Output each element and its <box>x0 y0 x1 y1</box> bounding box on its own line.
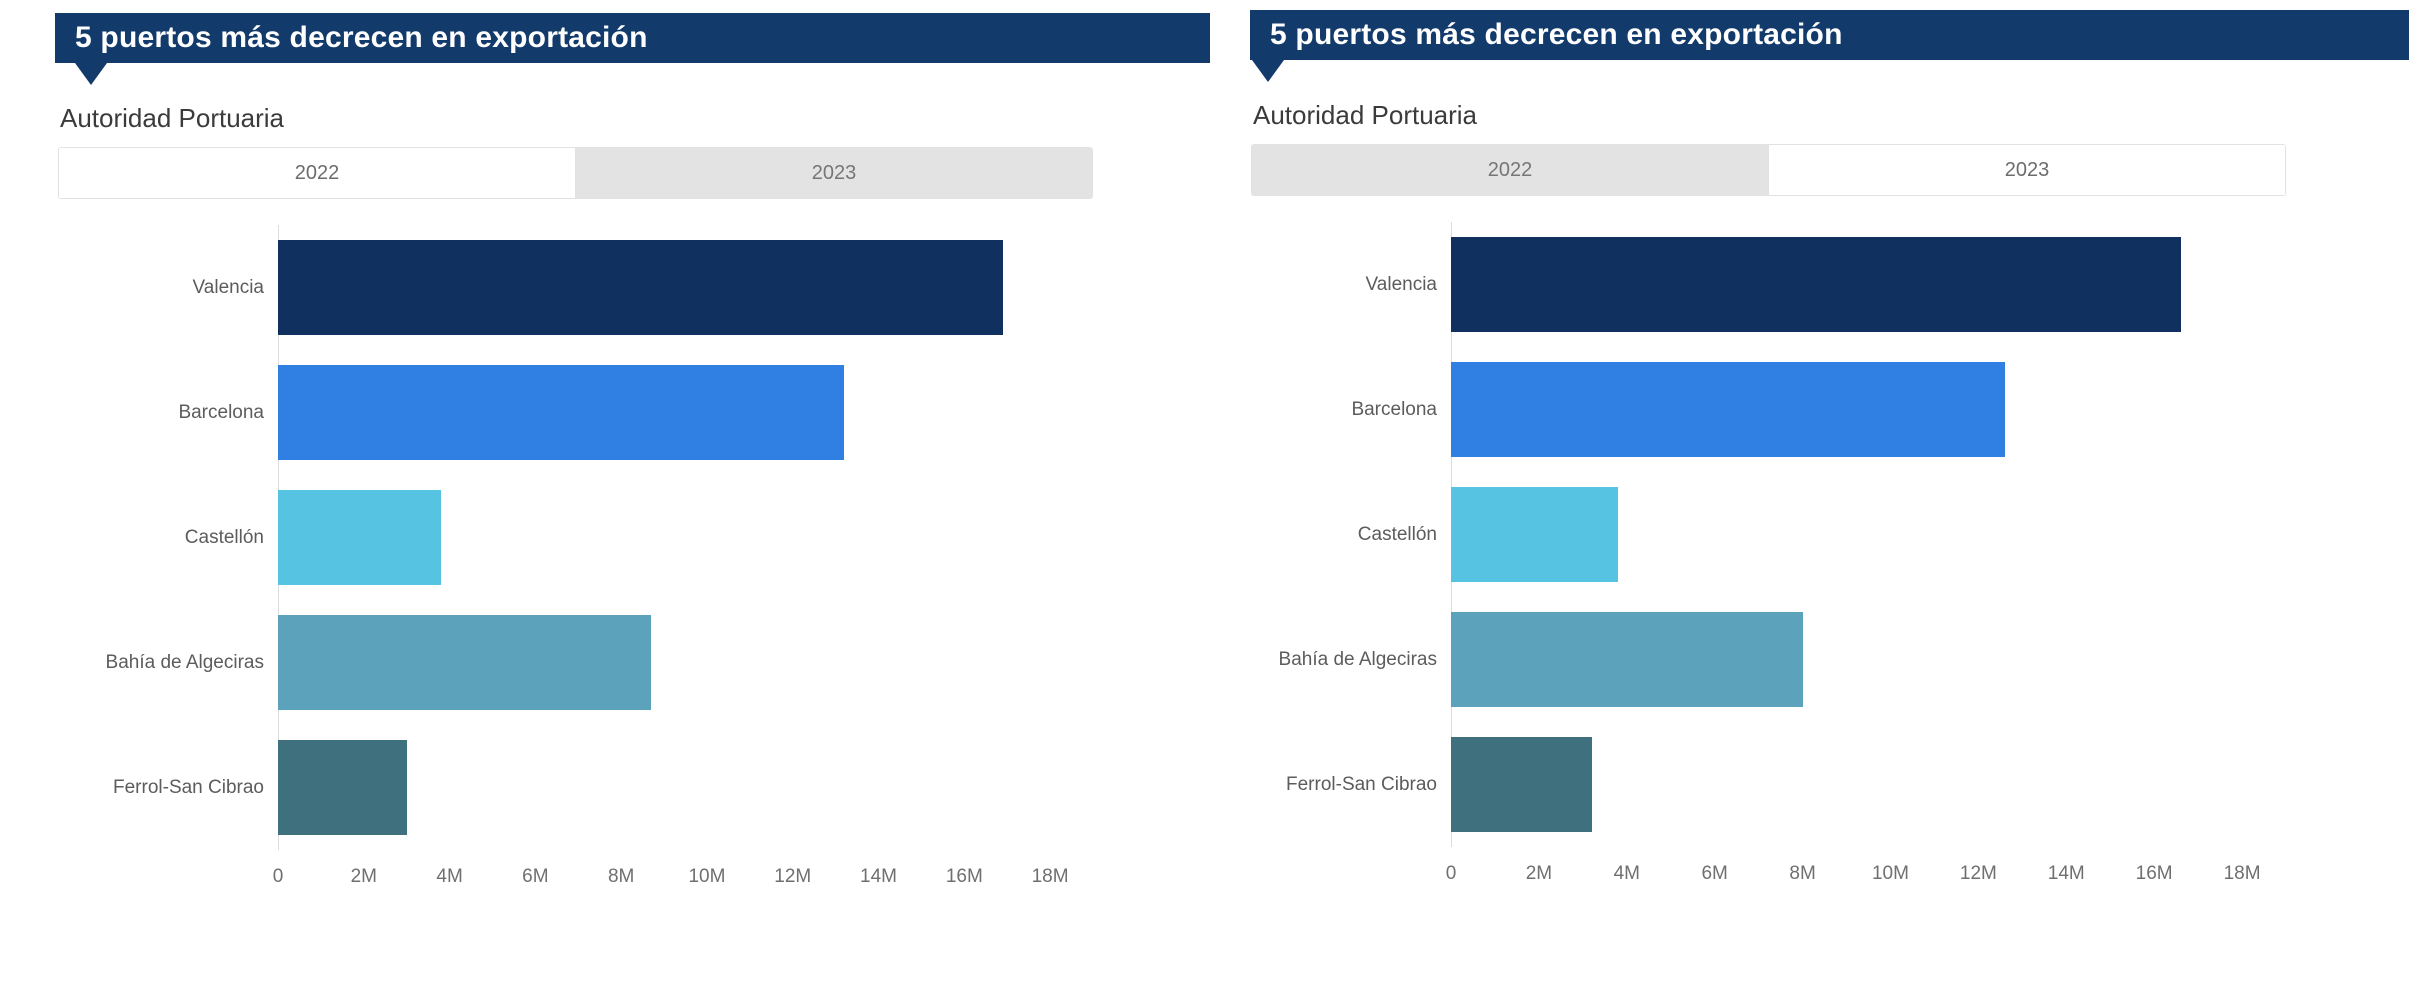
category-label-castellon: Castellón <box>58 527 278 549</box>
bar-chart-2022: Valencia Barcelona Castellón Bahía de Al… <box>58 225 1093 915</box>
dashboard-board: 5 puertos más decrecen en exportación Au… <box>0 0 2409 989</box>
bar-bahia-de-algeciras[interactable] <box>278 615 651 710</box>
bar-row <box>1451 222 2286 347</box>
x-tick-label: 0 <box>1446 863 1457 885</box>
filter-title: Autoridad Portuaria <box>1253 100 2399 131</box>
tab-2022[interactable]: 2022 <box>1252 145 1768 195</box>
x-tick-label: 18M <box>2224 863 2261 885</box>
year-tab-group[interactable]: 2022 2023 <box>58 147 1093 199</box>
bar-valencia[interactable] <box>278 240 1003 335</box>
bar-row <box>1451 472 2286 597</box>
tab-2023[interactable]: 2023 <box>1768 145 2285 195</box>
bar-barcelona[interactable] <box>278 365 844 460</box>
category-label-valencia: Valencia <box>58 277 278 299</box>
filter-title: Autoridad Portuaria <box>60 103 1240 134</box>
plot-area: Valencia Barcelona Castellón Bahía de Al… <box>1251 222 2286 847</box>
x-tick-label: 16M <box>2136 863 2173 885</box>
category-row: Valencia <box>1251 222 1451 347</box>
x-tick-label: 4M <box>436 866 462 888</box>
x-tick-label: 2M <box>351 866 377 888</box>
bar-row <box>278 225 1093 350</box>
tab-2023[interactable]: 2023 <box>575 148 1092 198</box>
banner-title: 5 puertos más decrecen en exportación <box>1250 10 2409 60</box>
x-tick-label: 12M <box>774 866 811 888</box>
x-tick-label: 8M <box>608 866 634 888</box>
x-tick-label: 4M <box>1614 863 1640 885</box>
category-row: Barcelona <box>1251 347 1451 472</box>
category-row: Ferrol-San Cibrao <box>58 725 278 850</box>
category-row: Castellón <box>1251 472 1451 597</box>
category-row: Bahía de Algeciras <box>58 600 278 725</box>
x-tick-label: 0 <box>273 866 284 888</box>
category-label-bahia-de-algeciras: Bahía de Algeciras <box>1251 649 1451 671</box>
banner-title: 5 puertos más decrecen en exportación <box>55 13 1210 63</box>
panel-header: 5 puertos más decrecen en exportación <box>55 13 1240 85</box>
bar-castellon[interactable] <box>278 490 441 585</box>
bar-ferrol-san-cibrao[interactable] <box>1451 737 1592 832</box>
category-row: Ferrol-San Cibrao <box>1251 722 1451 847</box>
bar-ferrol-san-cibrao[interactable] <box>278 740 407 835</box>
x-tick-label: 10M <box>688 866 725 888</box>
x-tick-label: 10M <box>1872 863 1909 885</box>
bar-bahia-de-algeciras[interactable] <box>1451 612 1803 707</box>
category-label-barcelona: Barcelona <box>58 402 278 424</box>
category-label-ferrol-san-cibrao: Ferrol-San Cibrao <box>58 777 278 799</box>
bar-row <box>278 600 1093 725</box>
bar-row <box>278 350 1093 475</box>
year-tab-group[interactable]: 2022 2023 <box>1251 144 2286 196</box>
x-tick-label: 18M <box>1032 866 1069 888</box>
panel-2022: 5 puertos más decrecen en exportación Au… <box>0 0 1250 989</box>
bar-row <box>278 725 1093 850</box>
value-axis: 02M4M6M8M10M12M14M16M18M <box>58 850 1093 912</box>
category-label-barcelona: Barcelona <box>1251 399 1451 421</box>
bar-chart-2023: Valencia Barcelona Castellón Bahía de Al… <box>1251 222 2286 912</box>
panel-header: 5 puertos más decrecen en exportación <box>1250 10 2399 82</box>
category-label-bahia-de-algeciras: Bahía de Algeciras <box>58 652 278 674</box>
bar-row <box>278 475 1093 600</box>
category-label-ferrol-san-cibrao: Ferrol-San Cibrao <box>1251 774 1451 796</box>
bar-row <box>1451 722 2286 847</box>
banner-notch-icon <box>75 63 107 85</box>
category-row: Castellón <box>58 475 278 600</box>
category-axis: Valencia Barcelona Castellón Bahía de Al… <box>1251 222 1451 847</box>
x-tick-label: 6M <box>522 866 548 888</box>
bar-valencia[interactable] <box>1451 237 2181 332</box>
banner-notch-icon <box>1252 60 1284 82</box>
x-tick-label: 16M <box>946 866 983 888</box>
x-tick-label: 8M <box>1789 863 1815 885</box>
category-label-valencia: Valencia <box>1251 274 1451 296</box>
panel-2023: 5 puertos más decrecen en exportación Au… <box>1250 0 2409 989</box>
bars-area <box>278 225 1093 850</box>
bar-row <box>1451 347 2286 472</box>
value-axis: 02M4M6M8M10M12M14M16M18M <box>1251 847 2286 909</box>
x-tick-label: 6M <box>1701 863 1727 885</box>
x-tick-label: 2M <box>1526 863 1552 885</box>
x-tick-label: 14M <box>860 866 897 888</box>
category-axis: Valencia Barcelona Castellón Bahía de Al… <box>58 225 278 850</box>
tab-2022[interactable]: 2022 <box>59 148 575 198</box>
bar-barcelona[interactable] <box>1451 362 2005 457</box>
bars-area <box>1451 222 2286 847</box>
bar-row <box>1451 597 2286 722</box>
bar-castellon[interactable] <box>1451 487 1618 582</box>
category-row: Bahía de Algeciras <box>1251 597 1451 722</box>
x-tick-label: 14M <box>2048 863 2085 885</box>
category-row: Valencia <box>58 225 278 350</box>
category-label-castellon: Castellón <box>1251 524 1451 546</box>
x-tick-label: 12M <box>1960 863 1997 885</box>
category-row: Barcelona <box>58 350 278 475</box>
plot-area: Valencia Barcelona Castellón Bahía de Al… <box>58 225 1093 850</box>
